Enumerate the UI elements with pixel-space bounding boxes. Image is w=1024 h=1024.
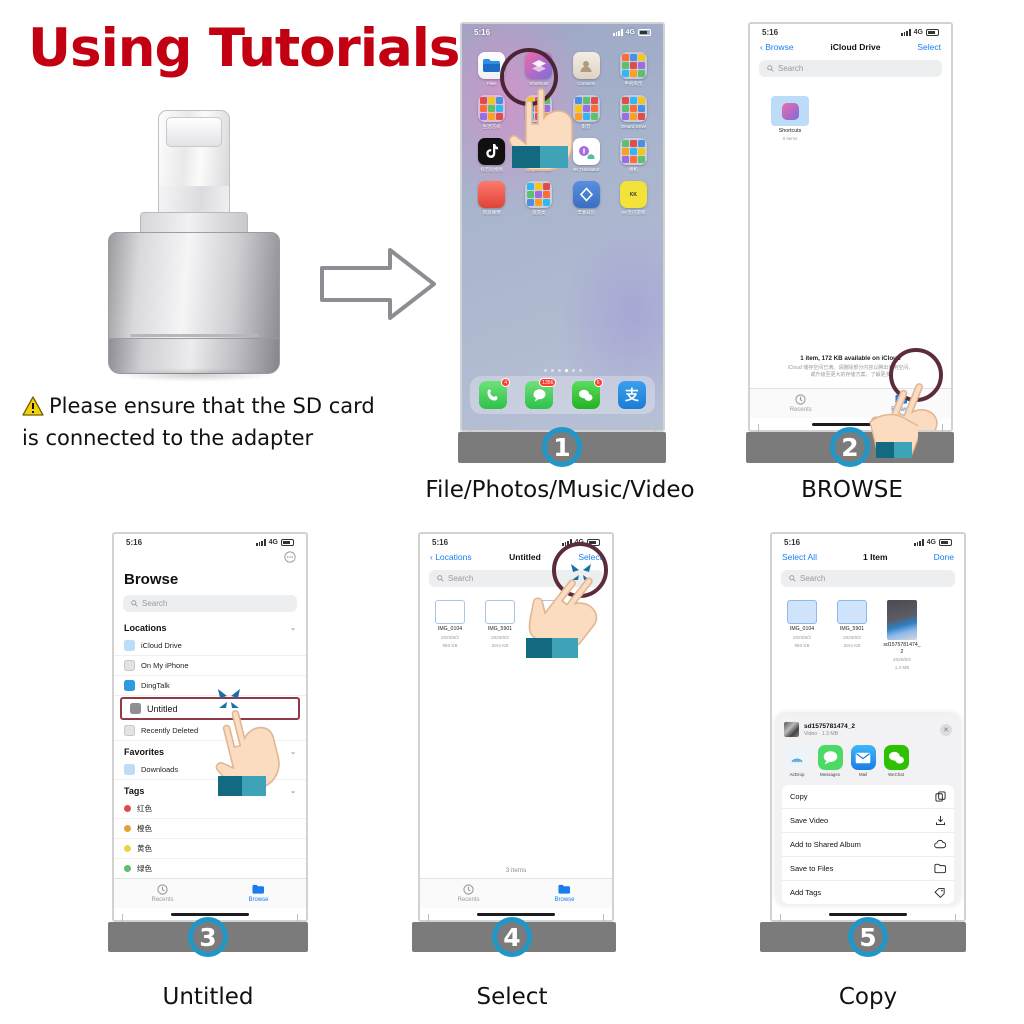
video-thumbnail: [887, 600, 917, 640]
action-label: Copy: [790, 792, 808, 801]
list-item-tag-orange[interactable]: 橙色: [114, 819, 306, 839]
app-icon-contacts[interactable]: Contacts: [571, 52, 601, 87]
file-item[interactable]: IMG_5901 2020/8/2 Zero KB: [832, 600, 872, 671]
network-label: 4G: [269, 539, 278, 546]
file-date: 2020/8/2: [441, 635, 459, 641]
tap-burst-icon: [214, 686, 244, 717]
app-label: 新浪微博: [483, 210, 501, 216]
list-item-on-my-iphone[interactable]: On My iPhone: [114, 656, 306, 676]
app-icon-diamond-app[interactable]: 丰收日历: [571, 181, 601, 216]
network-label: 4G: [626, 29, 635, 36]
share-target-label: Mail: [859, 772, 867, 777]
step-badge-2: 2: [830, 427, 870, 467]
share-target-messages[interactable]: Messages: [817, 745, 843, 777]
adapter-shadow: [114, 368, 276, 382]
search-input[interactable]: Search: [123, 595, 297, 612]
search-placeholder: Search: [448, 574, 473, 583]
tab-browse[interactable]: Browse: [248, 884, 268, 903]
section-title: Locations: [124, 623, 167, 633]
note-line-1: Please ensure that the SD card: [49, 394, 375, 418]
list-item-dingtalk[interactable]: DingTalk: [114, 676, 306, 696]
search-placeholder: Search: [778, 64, 803, 73]
step-1-phone: 5:16 4G Files: [460, 22, 665, 432]
dingtalk-icon: [124, 680, 135, 691]
app-icon-folder-media[interactable]: 影音: [571, 95, 601, 130]
signal-bars-icon: [901, 29, 910, 36]
signal-bars-icon: [613, 29, 622, 36]
search-input[interactable]: Search: [759, 60, 942, 77]
lightning-connector-icon: [158, 110, 230, 190]
clock-icon: [463, 884, 474, 895]
action-copy[interactable]: Copy: [782, 785, 954, 809]
section-header-locations: Locations ⌄: [114, 617, 306, 636]
step-number: 4: [503, 923, 520, 952]
list-item-label: Recently Deleted: [141, 726, 198, 735]
app-icon-tiktok[interactable]: 抖音短视频: [477, 138, 507, 173]
battery-icon: [939, 539, 952, 546]
share-app-row: AirDrop Messages Mail: [776, 743, 960, 785]
list-item-tag-yellow[interactable]: 黄色: [114, 839, 306, 859]
file-name: sd1575781474_2: [530, 626, 570, 639]
file-name: IMG_5901: [488, 626, 512, 633]
select-all-button[interactable]: Select All: [782, 552, 817, 562]
tag-color-dot: [124, 865, 131, 872]
step-badge-3: 3: [188, 917, 228, 957]
share-file-subtitle: Video · 1.3 MB: [804, 731, 855, 737]
item-count-label: 3 items: [420, 867, 612, 874]
page-heading: Browse: [114, 565, 306, 590]
list-item-downloads[interactable]: Downloads: [114, 760, 306, 780]
step-number: 3: [199, 923, 216, 952]
tab-label: Browse: [248, 897, 268, 903]
file-size: 993 KB: [442, 643, 457, 649]
tab-label: Recents: [151, 897, 173, 903]
folder-icon: [620, 95, 647, 122]
app-label: 旅游类: [532, 210, 546, 216]
search-placeholder: Search: [142, 599, 167, 608]
tab-recents[interactable]: Recents: [790, 394, 812, 413]
step-5-phone: 5:16 4G Select All 1 Item Done Search: [770, 532, 966, 922]
adapter-illustration: [100, 110, 300, 370]
app-icon-folder-taobao[interactable]: 手机淘宝: [618, 52, 648, 87]
page-title: Using Tutorials: [28, 18, 459, 79]
share-sheet: sd1575781474_2 Video · 1.3 MB ✕ AirDrop: [776, 714, 960, 906]
share-file-title: sd1575781474_2: [804, 723, 855, 731]
adapter-body: [108, 232, 280, 342]
dock-icon-wechat[interactable]: 6: [572, 381, 600, 409]
search-icon: [789, 575, 796, 582]
action-save-video[interactable]: Save Video: [782, 809, 954, 833]
list-item-label: 红色: [137, 803, 152, 814]
wechat-icon: [888, 751, 905, 765]
icloud-drive-screen: 5:16 4G ‹ Browse iCloud Drive Select Sea…: [748, 22, 953, 432]
app-label: 4K Translator: [573, 167, 600, 172]
tab-recents[interactable]: Recents: [457, 884, 479, 903]
hand-over-plinth: [864, 404, 918, 464]
list-item-label: 绿色: [137, 863, 152, 874]
battery-icon: [281, 539, 294, 546]
status-time: 5:16: [784, 538, 800, 547]
folder-icon: [573, 95, 600, 122]
status-time: 5:16: [432, 538, 448, 547]
chevron-down-icon[interactable]: ⌄: [290, 748, 296, 756]
share-target-wechat[interactable]: WeChat: [883, 745, 909, 777]
section-header-favorites: Favorites ⌄: [114, 741, 306, 760]
highlight-circle-browse: [889, 348, 943, 402]
list-item-label: Downloads: [141, 765, 178, 774]
right-arrow-icon: [318, 244, 438, 324]
nav-title: iCloud Drive: [830, 42, 880, 52]
network-label: 4G: [927, 539, 936, 546]
file-item[interactable]: IMG_5901 2020/8/2 Zero KB: [480, 600, 520, 655]
action-label: Add to Shared Album: [790, 840, 861, 849]
app-label: Omard Drive: [621, 124, 647, 129]
chevron-down-icon[interactable]: ⌄: [290, 787, 296, 795]
share-sheet-header: sd1575781474_2 Video · 1.3 MB ✕: [776, 720, 960, 743]
app-icon-folder-travel[interactable]: 旅游类: [524, 181, 554, 216]
step-2-phone: 5:16 4G ‹ Browse iCloud Drive Select Sea…: [748, 22, 953, 432]
file-date: 2020/8/2: [491, 635, 509, 641]
list-item-icloud-drive[interactable]: iCloud Drive: [114, 636, 306, 656]
tag-color-dot: [124, 825, 131, 832]
airdrop-icon: [789, 750, 805, 766]
status-bar: 5:16 4G: [462, 24, 663, 39]
file-thumbnail-icon: [837, 600, 867, 624]
list-item-label: DingTalk: [141, 681, 170, 690]
iphone-home-screen: 5:16 4G Files: [460, 22, 665, 432]
file-thumbnail-icon: [535, 600, 565, 624]
search-input[interactable]: Search: [781, 570, 955, 587]
navigation-bar: Select All 1 Item Done: [772, 549, 964, 565]
app-icon-translator[interactable]: 4K Translator: [571, 138, 601, 173]
folder-icon: [478, 95, 505, 122]
folder-meta: 0 items: [783, 136, 798, 141]
share-sheet-screen: 5:16 4G Select All 1 Item Done Search: [770, 532, 966, 922]
section-header-tags: Tags ⌄: [114, 780, 306, 799]
shared-album-icon: [934, 839, 946, 850]
status-time: 5:16: [474, 28, 490, 37]
step-badge-4: 4: [492, 917, 532, 957]
action-label: Save to Files: [790, 864, 833, 873]
untitled-folder-screen: 5:16 4G ‹ Locations Untitled Select Sear…: [418, 532, 614, 922]
app-label: English Club: [526, 167, 551, 172]
app-icon-folder-misc[interactable]: Omard Drive: [618, 95, 648, 130]
trash-icon: [124, 725, 135, 736]
battery-icon: [638, 29, 651, 36]
step-number: 2: [841, 433, 858, 462]
search-placeholder: Search: [800, 574, 825, 583]
step-number: 1: [553, 433, 570, 462]
search-icon: [767, 65, 774, 72]
file-size: 1.3 MB: [895, 665, 910, 671]
section-title: Favorites: [124, 747, 164, 757]
file-date: 2020/8/2: [843, 635, 861, 641]
status-time: 5:16: [762, 28, 778, 37]
file-thumbnail-icon: [787, 600, 817, 624]
list-item-label: iCloud Drive: [141, 641, 182, 650]
app-label: 影音: [582, 124, 591, 130]
dock-icon-messages[interactable]: 1356: [525, 381, 553, 409]
file-item[interactable]: IMG_0104 2020/8/2 993 KB: [782, 600, 822, 671]
file-size: 993 KB: [794, 643, 809, 649]
file-date: 2020/8/2: [793, 635, 811, 641]
tab-browse[interactable]: Browse: [554, 884, 574, 903]
action-add-tags[interactable]: Add Tags: [782, 881, 954, 904]
mail-icon: [855, 752, 871, 764]
tab-label: Recents: [790, 407, 812, 413]
step-3-caption: Untitled: [163, 984, 254, 1010]
icloud-icon: [124, 640, 135, 651]
file-grid: IMG_0104 2020/8/2 993 KB IMG_5901 2020/8…: [772, 592, 964, 671]
page-dots: [462, 369, 663, 372]
sd-card-slot: [130, 334, 258, 337]
file-thumbnail-icon: [435, 600, 465, 624]
share-target-label: Messages: [820, 772, 840, 777]
list-item-label: 橙色: [137, 823, 152, 834]
tag-color-dot: [124, 845, 131, 852]
folder-icon: [771, 96, 809, 126]
status-bar: 5:16 4G: [114, 534, 306, 549]
file-name: IMG_0104: [438, 626, 462, 633]
select-button[interactable]: Select: [917, 42, 941, 52]
warning-triangle-icon: [22, 395, 44, 424]
file-grid: IMG_0104 2020/8/2 993 KB IMG_5901 2020/8…: [420, 592, 612, 655]
folder-name: Shortcuts: [779, 128, 802, 134]
signal-bars-icon: [914, 539, 923, 546]
ellipsis-circle-icon[interactable]: [284, 551, 296, 563]
search-icon: [131, 600, 138, 607]
share-actions-list: Copy Save Video Add to Shared Album Save…: [782, 785, 954, 904]
app-icon-english-club[interactable]: English Club: [524, 138, 554, 173]
chevron-down-icon[interactable]: ⌄: [290, 624, 296, 632]
app-label: 丰收日历: [577, 210, 595, 216]
tutorial-page: Using Tutorials Please ensure that the S…: [0, 0, 1024, 1024]
highlight-circle-files: [500, 48, 558, 106]
app-label: 手机淘宝: [624, 81, 642, 87]
action-save-to-files[interactable]: Save to Files: [782, 857, 954, 881]
file-name: sd1575781474_2: [882, 642, 922, 655]
step-number: 5: [859, 923, 876, 952]
folder-icon: [934, 863, 946, 874]
app-label: Contacts: [577, 81, 595, 86]
app-label: KK宝贝游戏: [621, 210, 645, 216]
app-label: Files: [487, 81, 497, 86]
list-item-label: Untitled: [147, 704, 178, 714]
section-title: Tags: [124, 786, 144, 796]
messages-icon: [822, 750, 839, 765]
app-grid: Files Shortcuts Contacts: [468, 52, 657, 216]
app-icon-folder-camera[interactable]: 相机: [618, 138, 648, 173]
tag-icon: [934, 887, 946, 898]
action-label: Save Video: [790, 816, 828, 825]
folder-icon: [525, 181, 552, 208]
action-label: Add Tags: [790, 888, 821, 897]
list-item-label: On My iPhone: [141, 661, 189, 670]
list-item-untitled[interactable]: Untitled: [120, 697, 300, 720]
file-date: 2020/8/2: [893, 657, 911, 663]
status-time: 5:16: [126, 538, 142, 547]
tag-color-dot: [124, 805, 131, 812]
app-icon-folder-lifestyle[interactable]: 生活方式: [477, 95, 507, 130]
nav-title: Untitled: [509, 552, 541, 562]
search-icon: [437, 575, 444, 582]
note-line-2: is connected to the adapter: [22, 424, 422, 453]
tab-bar: Recents Browse: [114, 878, 306, 908]
file-item[interactable]: IMG_0104 2020/8/2 993 KB: [430, 600, 470, 655]
sd-card-icon: [130, 703, 141, 714]
file-size: 1.3 MB: [543, 649, 558, 655]
dock-icon-alipay[interactable]: 支: [618, 381, 646, 409]
list-item-label: 黄色: [137, 843, 152, 854]
battery-icon: [926, 29, 939, 36]
badge-count: 4: [501, 378, 510, 387]
step-3-phone: 5:16 4G Browse Search Locations ⌄: [112, 532, 308, 922]
clock-icon: [795, 394, 806, 405]
signal-bars-icon: [256, 539, 265, 546]
folder-icon: [620, 52, 647, 79]
step-badge-1: 1: [542, 427, 582, 467]
folder-icon: [252, 884, 264, 895]
share-target-airdrop[interactable]: AirDrop: [784, 745, 810, 777]
app-icon-folder-weibo[interactable]: 新浪微博: [477, 181, 507, 216]
file-item-selected[interactable]: sd1575781474_2 2020/8/2 1.3 MB: [882, 600, 922, 671]
nav-title: 1 Item: [863, 552, 888, 562]
step-4-phone: 5:16 4G ‹ Locations Untitled Select Sear…: [418, 532, 614, 922]
done-button[interactable]: Done: [934, 552, 954, 562]
file-size: Zero KB: [844, 643, 861, 649]
network-label: 4G: [914, 29, 923, 36]
action-add-shared-album[interactable]: Add to Shared Album: [782, 833, 954, 857]
clock-icon: [157, 884, 168, 895]
folder-icon: [558, 884, 570, 895]
downloads-folder-icon: [124, 764, 135, 775]
tab-label: Recents: [457, 897, 479, 903]
app-label: 购物: [534, 124, 543, 130]
step-5-caption: Copy: [839, 984, 897, 1010]
share-target-mail[interactable]: Mail: [850, 745, 876, 777]
file-name: IMG_0104: [790, 626, 814, 633]
status-bar: 5:16 4G: [750, 24, 951, 39]
close-icon[interactable]: ✕: [940, 724, 952, 736]
folder-icon: [620, 138, 647, 165]
share-file-thumbnail: [784, 722, 799, 737]
app-label: 相机: [629, 167, 638, 173]
sd-card-warning-note: Please ensure that the SD card is connec…: [22, 392, 422, 453]
copy-icon: [935, 791, 946, 802]
app-icon-yellow-game[interactable]: KK KK宝贝游戏: [618, 181, 648, 216]
save-video-icon: [935, 815, 946, 826]
file-date: 2020/8/2: [541, 641, 559, 647]
back-button[interactable]: ‹ Locations: [430, 552, 472, 562]
dock: 4 1356 6 支: [470, 376, 655, 414]
back-button[interactable]: ‹ Browse: [760, 42, 794, 52]
dock-icon-phone[interactable]: 4: [479, 381, 507, 409]
navigation-bar: ‹ Browse iCloud Drive Select: [750, 39, 951, 55]
list-item-tag-red[interactable]: 红色: [114, 799, 306, 819]
list-item-tag-green[interactable]: 绿色: [114, 859, 306, 879]
file-thumbnail-icon: [485, 600, 515, 624]
iphone-icon: [124, 660, 135, 671]
step-1-caption: File/Photos/Music/Video: [425, 477, 694, 503]
step-2-caption: BROWSE: [801, 477, 903, 503]
tab-recents[interactable]: Recents: [151, 884, 173, 903]
badge-count: 1356: [539, 378, 556, 387]
browse-screen: 5:16 4G Browse Search Locations ⌄: [112, 532, 308, 922]
app-label: 生活方式: [483, 124, 501, 130]
app-label: 抖音短视频: [480, 167, 503, 173]
tab-bar: Recents Browse: [420, 878, 612, 908]
file-size: Zero KB: [492, 643, 509, 649]
step-4-caption: Select: [477, 984, 548, 1010]
share-target-label: WeChat: [888, 772, 904, 777]
file-item[interactable]: sd1575781474_2 2020/8/2 1.3 MB: [530, 600, 570, 655]
share-target-label: AirDrop: [790, 772, 805, 777]
list-item-recently-deleted[interactable]: Recently Deleted: [114, 721, 306, 741]
status-bar: 5:16 4G: [772, 534, 964, 549]
tap-burst-icon: [568, 562, 594, 587]
badge-count: 6: [594, 378, 603, 387]
step-badge-5: 5: [848, 917, 888, 957]
file-name: IMG_5901: [840, 626, 864, 633]
folder-item-shortcuts[interactable]: Shortcuts 0 items: [768, 96, 812, 141]
tab-label: Browse: [554, 897, 574, 903]
